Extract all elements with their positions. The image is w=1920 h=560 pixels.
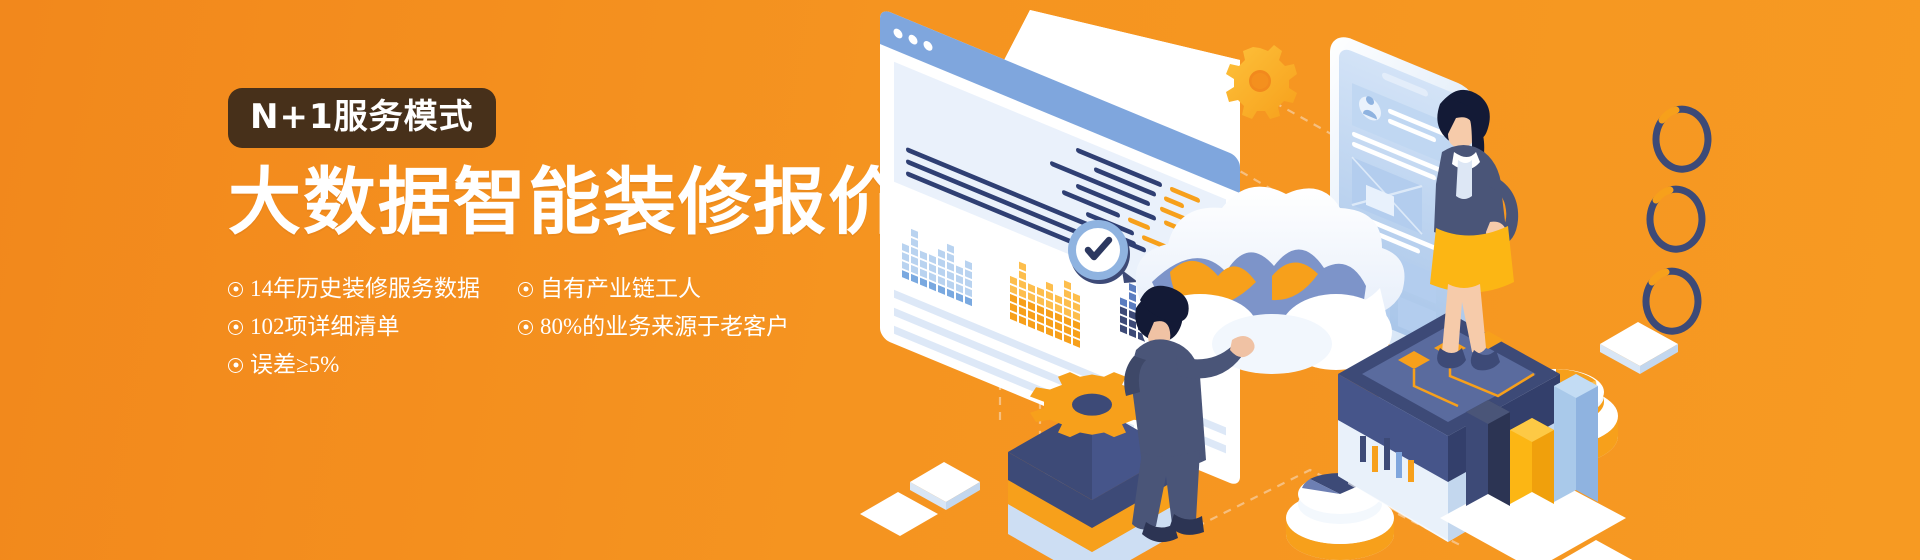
bullet-history-data: 14年历史装修服务数据 [228, 270, 486, 308]
circle-dot-icon [518, 320, 533, 335]
bullet-label: 102项详细清单 [250, 308, 400, 346]
bullet-label: 80%的业务来源于老客户 [540, 308, 789, 346]
feature-bullet-list: 14年历史装修服务数据 102项详细清单 误差≥5% 自有产业链工人 80%的业… [228, 270, 868, 384]
ring-arcs [1646, 109, 1708, 331]
bullet-own-workers: 自有产业链工人 [518, 270, 868, 308]
isometric-big-data-scene [840, 0, 1920, 560]
bullet-repeat-clients: 80%的业务来源于老客户 [518, 308, 868, 346]
circle-dot-icon [228, 282, 243, 297]
circle-dot-icon [518, 282, 533, 297]
circle-dot-icon [228, 320, 243, 335]
service-model-badge: N+1服务模式 [228, 88, 496, 148]
circle-dot-icon [228, 358, 243, 373]
bullet-label: 自有产业链工人 [540, 270, 701, 308]
bullet-error-margin: 误差≥5% [228, 346, 486, 384]
bullet-label: 14年历史装修服务数据 [250, 270, 480, 308]
promo-banner: N+1服务模式 大数据智能装修报价 14年历史装修服务数据 102项详细清单 误… [0, 0, 1920, 560]
bullet-item-list: 102项详细清单 [228, 308, 486, 346]
bullet-label: 误差≥5% [250, 346, 339, 384]
